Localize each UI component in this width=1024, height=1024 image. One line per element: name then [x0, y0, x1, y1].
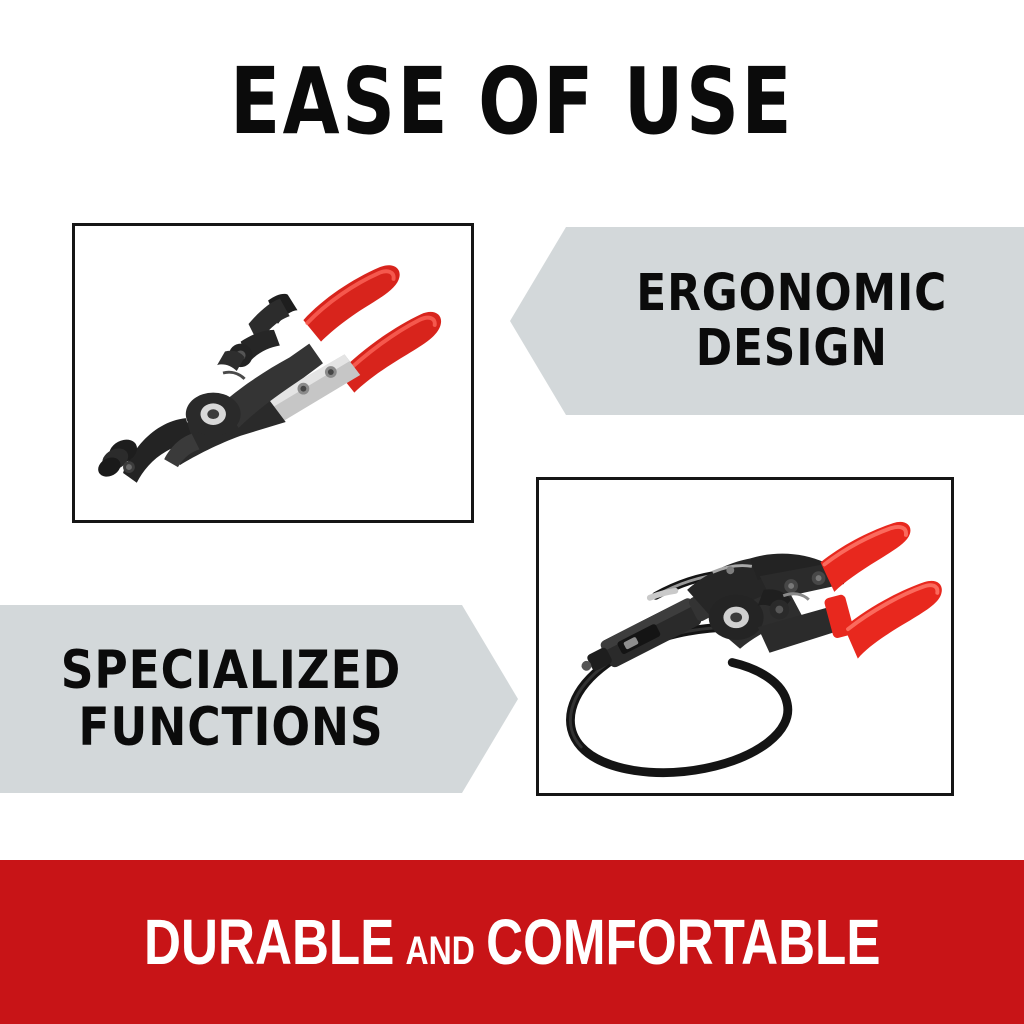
footer-banner: DURABLE AND COMFORTABLE — [0, 860, 1024, 1024]
footer-conjunction: AND — [405, 931, 474, 971]
page-title: EASE OF USE — [102, 56, 921, 148]
feature-label-ergonomic-design: ERGONOMIC DESIGN — [637, 266, 948, 376]
flexible-cable-hose-clamp-pliers-image — [539, 480, 951, 793]
hose-clamp-pliers-image — [75, 226, 471, 520]
footer-lead: DURABLE — [144, 910, 394, 974]
footer-text: DURABLE AND COMFORTABLE — [144, 910, 880, 974]
feature-banner-specialized-functions: SPECIALIZED FUNCTIONS — [0, 605, 518, 793]
product-photo-frame-1 — [72, 223, 474, 523]
footer-trail: COMFORTABLE — [486, 910, 880, 974]
feature-label-specialized-functions: SPECIALIZED FUNCTIONS — [61, 642, 402, 756]
promo-page: EASE OF USE — [0, 0, 1024, 1024]
product-photo-frame-2 — [536, 477, 954, 796]
feature-banner-ergonomic-design: ERGONOMIC DESIGN — [510, 227, 1024, 415]
